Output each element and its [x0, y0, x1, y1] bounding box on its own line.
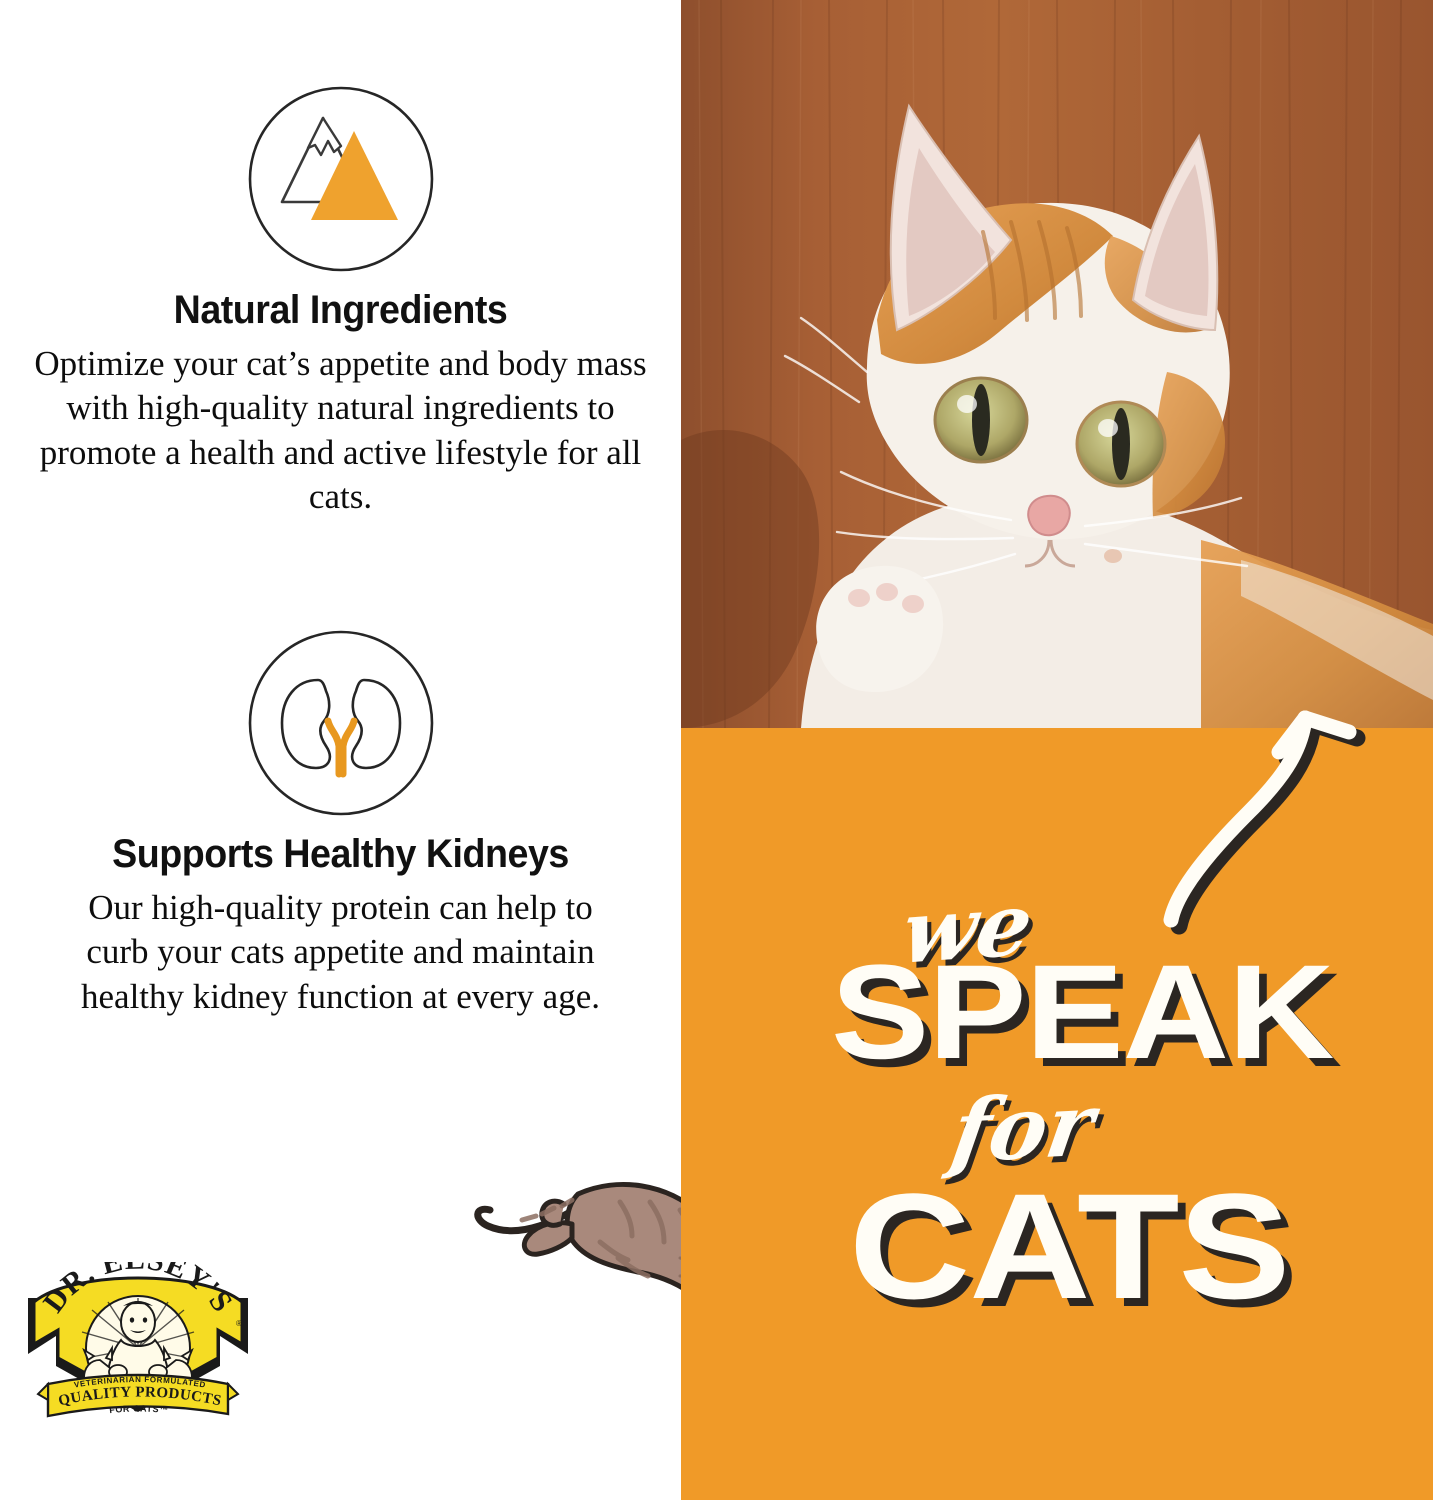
headline-block: we SPEAK for CATS	[681, 728, 1433, 1500]
registered-mark: ®	[236, 1319, 242, 1328]
feature-natural-ingredients: Natural Ingredients Optimize your cat’s …	[0, 84, 681, 520]
product-feature-graphic: Natural Ingredients Optimize your cat’s …	[0, 0, 1433, 1500]
feature-description: Optimize your cat’s appetite and body ma…	[33, 342, 648, 520]
cat-photo	[681, 0, 1433, 728]
kidney-icon	[246, 628, 436, 818]
cat-photo-artwork	[681, 0, 1433, 728]
logo-artwork: DR. ELSEY'S ® VETERINARIAN FORMULATED QU…	[22, 1262, 254, 1434]
right-hero-panel: we SPEAK for CATS	[681, 0, 1433, 1500]
headline-line-speak: SPEAK	[831, 936, 1333, 1089]
feature-title: Natural Ingredients	[20, 288, 660, 332]
headline-line-cats: CATS	[849, 1160, 1289, 1333]
dr-elseys-logo: DR. ELSEY'S ® VETERINARIAN FORMULATED QU…	[22, 1262, 254, 1434]
logo-banner-line-3: FOR CATS™	[109, 1403, 169, 1415]
mountain-icon	[246, 84, 436, 274]
feature-title: Supports Healthy Kidneys	[20, 832, 660, 876]
curved-arrow-icon	[1161, 668, 1401, 948]
feature-supports-healthy-kidneys: Supports Healthy Kidneys Our high-qualit…	[0, 628, 681, 1019]
feature-description: Our high-quality protein can help to cur…	[61, 886, 621, 1019]
